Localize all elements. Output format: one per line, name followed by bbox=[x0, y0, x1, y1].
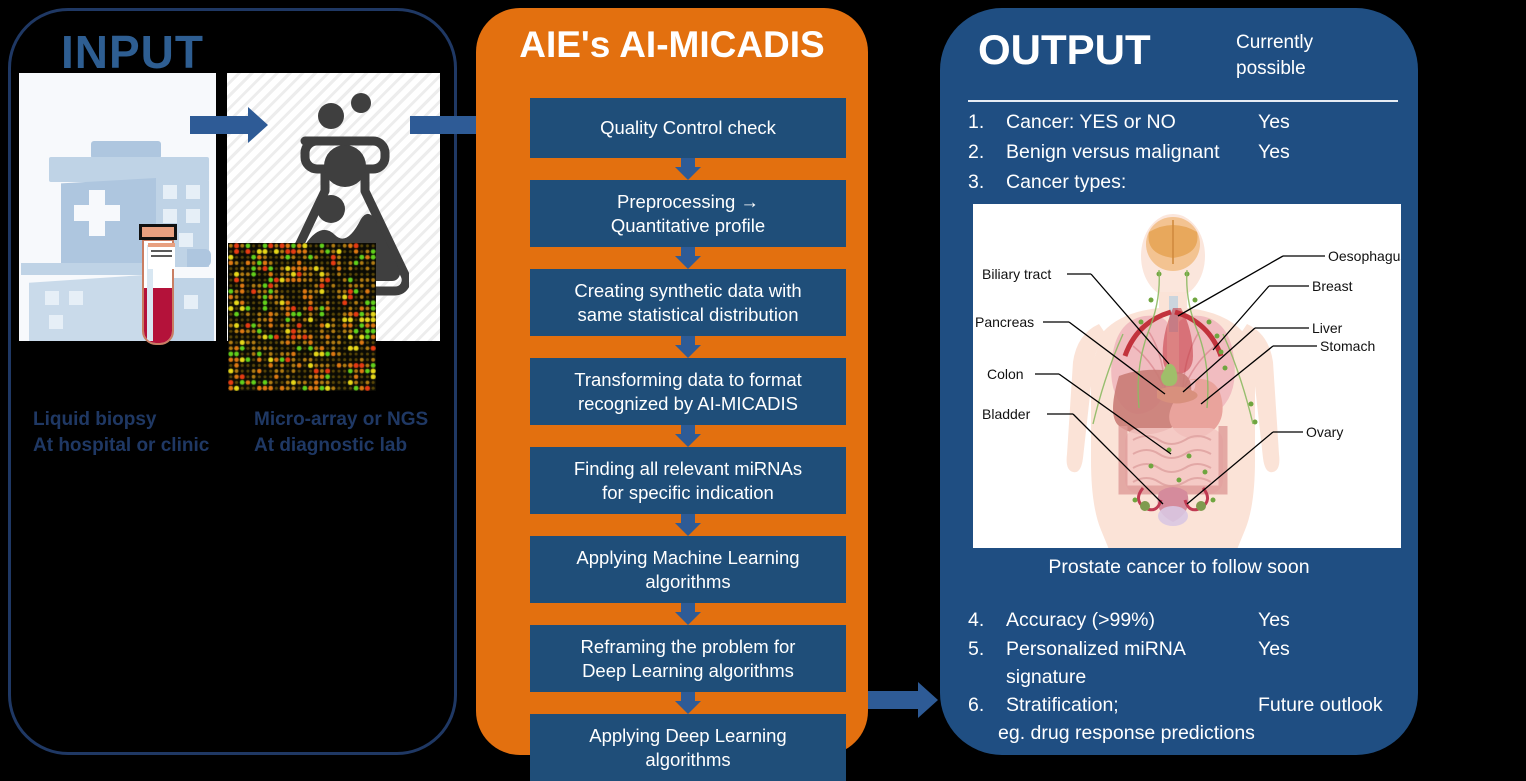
process-step-line: algorithms bbox=[576, 570, 799, 594]
row-number: 4. bbox=[968, 606, 1006, 634]
output-value-6: Future outlook bbox=[1258, 691, 1383, 719]
human-body-cancer-types-diagram: Oesophagus Breast Liver Stomach Ovary Bi… bbox=[973, 204, 1401, 548]
process-step-line: Applying Deep Learning bbox=[589, 724, 786, 748]
process-step-line: recognized by AI-MICADIS bbox=[574, 392, 802, 416]
anatomy-label-oesophagus: Oesophagus bbox=[1328, 248, 1401, 264]
output-value-4: Yes bbox=[1258, 606, 1290, 634]
microarray-chip-image bbox=[228, 243, 376, 391]
output-row-6-continuation: eg. drug response predictions bbox=[998, 719, 1255, 747]
output-row-2: 2. Benign versus malignant bbox=[968, 138, 1220, 166]
prostate-note: Prostate cancer to follow soon bbox=[940, 556, 1418, 579]
output-value-2: Yes bbox=[1258, 138, 1290, 166]
process-step-line: Quantitative profile bbox=[611, 214, 765, 238]
output-value-5: Yes bbox=[1258, 635, 1290, 663]
anatomy-label-breast: Breast bbox=[1312, 278, 1352, 294]
hospital-annex-icon bbox=[187, 249, 211, 267]
tube-cap bbox=[139, 224, 177, 240]
caption-line: At diagnostic lab bbox=[254, 433, 464, 459]
process-step-line: algorithms bbox=[589, 748, 786, 772]
arrow-input-to-lab-icon bbox=[190, 107, 268, 143]
process-flow-arrow-icon bbox=[530, 692, 846, 714]
row-number: 1. bbox=[968, 108, 1006, 136]
caption-line: Liquid biopsy bbox=[33, 407, 233, 433]
process-step-machine-learning: Applying Machine Learningalgorithms bbox=[530, 536, 846, 603]
window-icon bbox=[186, 185, 200, 199]
process-flow-arrow-icon bbox=[530, 514, 846, 536]
window-icon bbox=[49, 315, 63, 329]
output-column-header: Currently possible bbox=[1236, 30, 1396, 82]
output-row-6: 6. Stratification; bbox=[968, 691, 1119, 719]
output-row-5-continuation: signature bbox=[1006, 663, 1086, 691]
process-step-quality-control: Quality Control check bbox=[530, 98, 846, 158]
process-step-synthetic-data: Creating synthetic data withsame statist… bbox=[530, 269, 846, 336]
anatomy-label-liver: Liver bbox=[1312, 320, 1342, 336]
anatomy-label-colon: Colon bbox=[987, 366, 1024, 382]
medical-cross-icon bbox=[74, 205, 120, 221]
process-step-line: Preprocessing → bbox=[611, 190, 765, 214]
input-caption-liquid-biopsy: Liquid biopsy At hospital or clinic bbox=[33, 407, 233, 459]
row-number: 3. bbox=[968, 168, 1006, 196]
process-step-line: Finding all relevant miRNAs bbox=[574, 457, 802, 481]
anatomy-label-biliary-tract: Biliary tract bbox=[982, 266, 1051, 282]
process-step-transform-format: Transforming data to formatrecognized by… bbox=[530, 358, 846, 425]
output-row-3: 3. Cancer types: bbox=[968, 168, 1126, 196]
anatomy-label-ovary: Ovary bbox=[1306, 424, 1343, 440]
input-panel-title: INPUT bbox=[61, 25, 204, 79]
output-panel-title: OUTPUT bbox=[978, 26, 1151, 74]
window-icon bbox=[186, 209, 200, 223]
window-icon bbox=[179, 233, 193, 247]
process-step-reframe-problem: Reframing the problem forDeep Learning a… bbox=[530, 625, 846, 692]
output-row-4: 4. Accuracy (>99%) bbox=[968, 606, 1155, 634]
process-step-line: Applying Machine Learning bbox=[576, 546, 799, 570]
process-step-deep-learning: Applying Deep Learningalgorithms bbox=[530, 714, 846, 781]
process-step-list: Quality Control checkPreprocessing →Quan… bbox=[530, 98, 846, 781]
output-panel: OUTPUT Currently possible 1. Cancer: YES… bbox=[940, 8, 1418, 755]
caption-line: At hospital or clinic bbox=[33, 433, 233, 459]
process-step-line: Quality Control check bbox=[600, 116, 776, 140]
process-panel-title: AIE's AI-MICADIS bbox=[476, 24, 868, 66]
caption-line: Micro-array or NGS bbox=[254, 407, 464, 433]
process-flow-arrow-icon bbox=[530, 336, 846, 358]
output-row-5: 5. Personalized miRNA bbox=[968, 635, 1186, 663]
tube-label bbox=[148, 243, 175, 269]
output-value-1: Yes bbox=[1258, 108, 1290, 136]
process-step-line: for specific indication bbox=[574, 481, 802, 505]
hospital-ledge-icon bbox=[49, 157, 209, 182]
process-step-line: Reframing the problem for bbox=[581, 635, 796, 659]
anatomy-label-bladder: Bladder bbox=[982, 406, 1030, 422]
process-flow-arrow-icon bbox=[530, 158, 846, 180]
output-row-1: 1. Cancer: YES or NO bbox=[968, 108, 1176, 136]
diagram-canvas: INPUT Liquid biopsy At hospital or clini… bbox=[0, 0, 1526, 763]
row-number: 2. bbox=[968, 138, 1006, 166]
process-step-line: Creating synthetic data with bbox=[574, 279, 801, 303]
window-icon bbox=[184, 295, 198, 309]
window-icon bbox=[45, 291, 59, 305]
process-flow-arrow-icon bbox=[530, 247, 846, 269]
process-panel: AIE's AI-MICADIS Quality Control checkPr… bbox=[476, 8, 868, 755]
process-flow-arrow-icon bbox=[530, 425, 846, 447]
hospital-illustration bbox=[19, 73, 216, 341]
row-text: Benign versus malignant bbox=[1006, 138, 1220, 166]
row-text: Personalized miRNA bbox=[1006, 635, 1186, 663]
process-step-find-mirnas: Finding all relevant miRNAsfor specific … bbox=[530, 447, 846, 514]
anatomy-label-pancreas: Pancreas bbox=[975, 314, 1034, 330]
row-text: Stratification; bbox=[1006, 691, 1119, 719]
window-icon bbox=[69, 291, 83, 305]
window-icon bbox=[163, 209, 177, 223]
output-header-divider bbox=[968, 100, 1398, 102]
row-text: Cancer: YES or NO bbox=[1006, 108, 1176, 136]
anatomy-label-stomach: Stomach bbox=[1320, 338, 1375, 354]
row-text: Accuracy (>99%) bbox=[1006, 606, 1155, 634]
row-text: Cancer types: bbox=[1006, 168, 1126, 196]
column-header-line: Currently bbox=[1236, 30, 1396, 56]
process-step-line: Deep Learning algorithms bbox=[581, 659, 796, 683]
blood-collection-tube-icon bbox=[139, 224, 177, 347]
process-flow-arrow-icon bbox=[530, 603, 846, 625]
process-step-line: Transforming data to format bbox=[574, 368, 802, 392]
window-icon bbox=[163, 185, 177, 199]
column-header-line: possible bbox=[1236, 56, 1396, 82]
row-number: 6. bbox=[968, 691, 1006, 719]
row-number: 5. bbox=[968, 635, 1006, 663]
process-step-preprocessing: Preprocessing →Quantitative profile bbox=[530, 180, 846, 247]
process-step-line: same statistical distribution bbox=[574, 303, 801, 327]
input-caption-microarray: Micro-array or NGS At diagnostic lab bbox=[254, 407, 464, 459]
